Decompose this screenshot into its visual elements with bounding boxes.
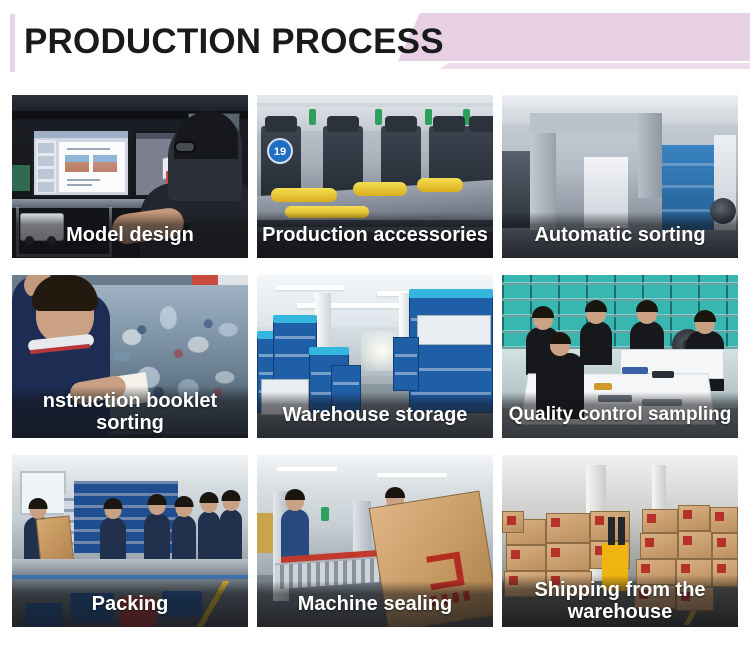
process-card-warehouse-storage[interactable]: Warehouse storage — [257, 275, 493, 438]
caption-instruction-booklet-sorting: nstruction booklet sorting — [14, 390, 246, 434]
caption-band: Shipping from the warehouse — [502, 575, 738, 627]
process-card-instruction-booklet-sorting[interactable]: nstruction booklet sorting — [12, 275, 248, 438]
caption-band: Warehouse storage — [257, 392, 493, 438]
process-card-production-accessories[interactable]: 19 Production accessories — [257, 95, 493, 258]
process-card-packing[interactable]: Packing — [12, 455, 248, 627]
process-card-shipping-from-the-warehouse[interactable]: Shipping from the warehouse — [502, 455, 738, 627]
caption-automatic-sorting: Automatic sorting — [534, 224, 705, 246]
caption-shipping-from-the-warehouse: Shipping from the warehouse — [504, 579, 736, 623]
header-banner-shape — [398, 13, 750, 61]
caption-packing: Packing — [92, 593, 169, 615]
caption-warehouse-storage: Warehouse storage — [283, 404, 468, 426]
caption-band: Machine sealing — [257, 581, 493, 627]
machine-badge-number: 19 — [267, 138, 293, 164]
page-title: PRODUCTION PROCESS — [24, 18, 444, 66]
caption-band: Automatic sorting — [502, 212, 738, 258]
caption-machine-sealing: Machine sealing — [298, 593, 453, 615]
caption-band: Production accessories — [257, 212, 493, 258]
title-accent-bar — [10, 14, 15, 72]
header-banner-stripe — [440, 63, 750, 69]
process-card-model-design[interactable]: Model design — [12, 95, 248, 258]
caption-quality-control-sampling: Quality control sampling — [509, 404, 732, 426]
caption-band: Quality control sampling — [502, 392, 738, 438]
caption-band: Packing — [12, 581, 248, 627]
production-process-page: PRODUCTION PROCESS — [0, 0, 750, 651]
process-grid: Model design 19 Production accessories — [12, 95, 738, 627]
process-card-machine-sealing[interactable]: Machine sealing — [257, 455, 493, 627]
page-header: PRODUCTION PROCESS — [0, 0, 750, 88]
caption-band: nstruction booklet sorting — [12, 386, 248, 438]
caption-model-design: Model design — [66, 224, 194, 246]
caption-production-accessories: Production accessories — [262, 224, 488, 246]
process-card-automatic-sorting[interactable]: Automatic sorting — [502, 95, 738, 258]
process-card-quality-control-sampling[interactable]: Quality control sampling — [502, 275, 738, 438]
caption-band: Model design — [12, 212, 248, 258]
